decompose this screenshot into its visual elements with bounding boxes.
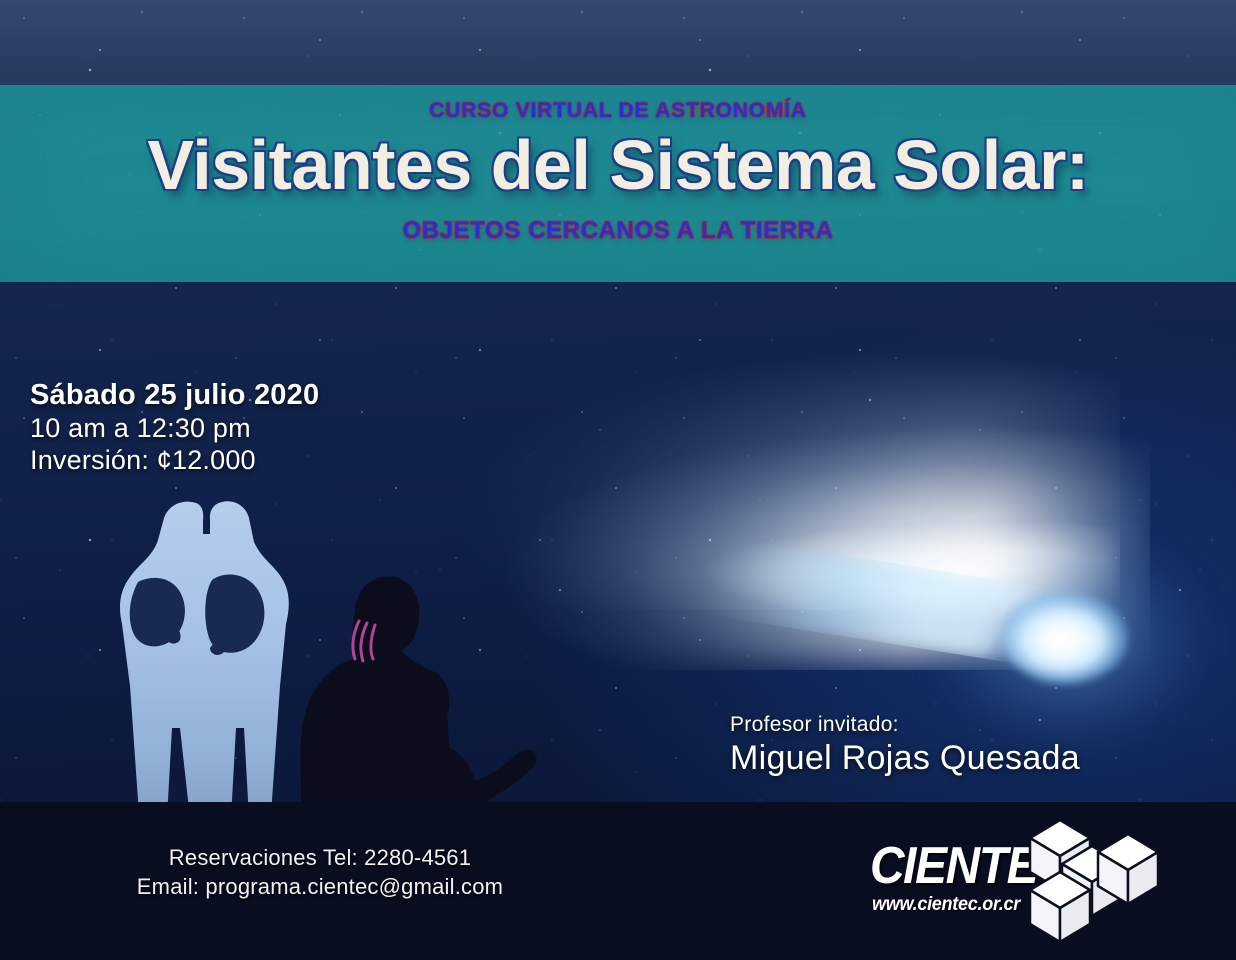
cientec-cubes-icon xyxy=(1012,794,1192,950)
contact-email[interactable]: Email: programa.cientec@gmail.com xyxy=(110,872,530,901)
sky-top-gradient xyxy=(0,0,1236,90)
event-price: Inversión: ¢12.000 xyxy=(30,445,319,477)
cientec-website-url: www.cientec.or.cr xyxy=(872,894,1020,916)
event-details-block: Sábado 25 julio 2020 10 am a 12:30 pm In… xyxy=(30,378,319,477)
course-eyebrow-label: CURSO VIRTUAL DE ASTRONOMÍA xyxy=(429,99,806,123)
reservations-phone[interactable]: Reservaciones Tel: 2280-4561 xyxy=(110,843,530,872)
guest-professor-block: Profesor invitado: Miguel Rojas Quesada xyxy=(730,713,1080,778)
astronomy-course-poster: CURSO VIRTUAL DE ASTRONOMÍA Visitantes d… xyxy=(0,0,1236,960)
guest-professor-label: Profesor invitado: xyxy=(730,713,1080,737)
event-date: Sábado 25 julio 2020 xyxy=(30,378,319,413)
event-time: 10 am a 12:30 pm xyxy=(30,413,319,445)
cientec-logo[interactable]: CIENTEC www.cientec.or.cr xyxy=(862,800,1182,950)
guest-professor-name: Miguel Rojas Quesada xyxy=(730,739,1080,778)
page-subtitle: OBJETOS CERCANOS A LA TIERRA xyxy=(402,217,833,245)
page-title: Visitantes del Sistema Solar: xyxy=(147,129,1088,203)
title-banner: CURSO VIRTUAL DE ASTRONOMÍA Visitantes d… xyxy=(0,85,1236,282)
contact-block: Reservaciones Tel: 2280-4561 Email: prog… xyxy=(110,843,530,901)
